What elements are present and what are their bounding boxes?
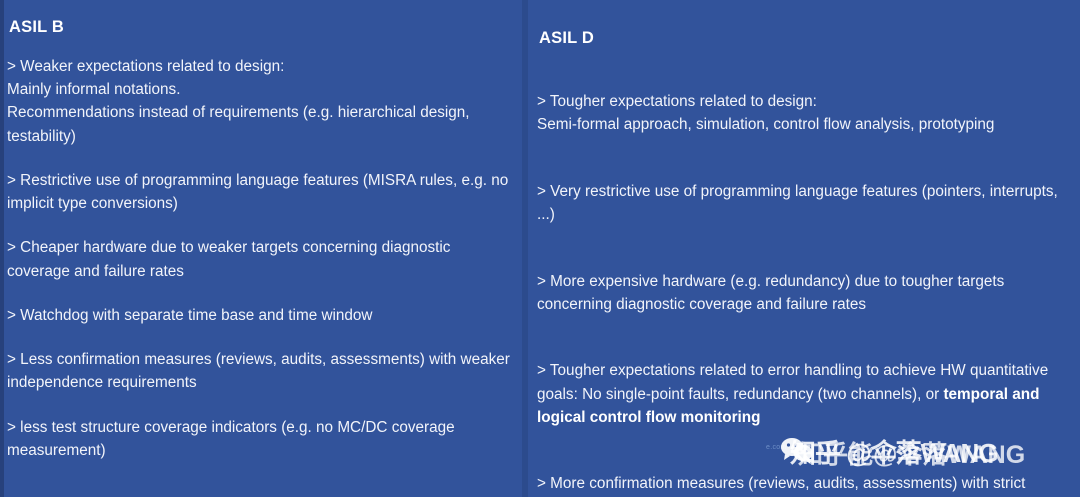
- bullet-text: > More expensive hardware (e.g. redundan…: [537, 273, 1004, 313]
- comparison-slide: ASIL B > Weaker expectations related to …: [0, 0, 1080, 497]
- bullet-item: > More confirmation measures (reviews, a…: [537, 449, 1066, 497]
- bullet-text: > Very restrictive use of programming la…: [537, 183, 1058, 223]
- bullet-item: > Restrictive use of programming languag…: [7, 169, 512, 216]
- column-asil-b: ASIL B > Weaker expectations related to …: [0, 0, 522, 497]
- bullet-text: > Tougher expectations related to design…: [537, 93, 994, 133]
- bullet-item: > Tougher expectations related to design…: [537, 67, 1066, 137]
- bullet-item: > Cheaper hardware due to weaker targets…: [7, 236, 512, 283]
- bullet-text: > More confirmation measures (reviews, a…: [537, 475, 1025, 497]
- bullet-item: > Very restrictive use of programming la…: [537, 157, 1066, 227]
- bullet-item: > Tougher expectations related to error …: [537, 336, 1066, 429]
- bullet-list-asil-d: > Tougher expectations related to design…: [537, 67, 1066, 497]
- bullet-list-asil-b: > Weaker expectations related to design:…: [7, 55, 512, 462]
- column-title-asil-d: ASIL D: [539, 29, 1066, 49]
- bullet-item: > Watchdog with separate time base and t…: [7, 304, 512, 327]
- bullet-item: > Weaker expectations related to design:…: [7, 55, 512, 148]
- bullet-item: > Less confirmation measures (reviews, a…: [7, 348, 512, 395]
- column-asil-d: ASIL D > Tougher expectations related to…: [528, 0, 1080, 497]
- bullet-item: > less test structure coverage indicator…: [7, 416, 512, 463]
- column-title-asil-b: ASIL B: [9, 18, 512, 38]
- bullet-item: > More expensive hardware (e.g. redundan…: [537, 246, 1066, 316]
